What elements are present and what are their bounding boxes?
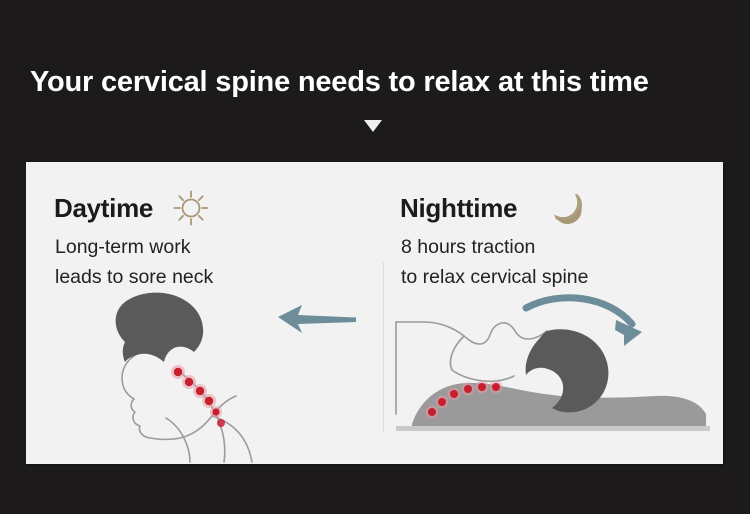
panel-nighttime-title: Nighttime bbox=[400, 193, 517, 223]
hair-shape bbox=[116, 293, 204, 362]
panel-daytime-body-line-2: leads to sore neck bbox=[55, 262, 213, 292]
panel-daytime-header: Daytime bbox=[54, 188, 211, 228]
pain-dots bbox=[171, 365, 225, 427]
panel-daytime: Daytime bbox=[26, 162, 383, 464]
reclining-person-on-pillow-illustration bbox=[384, 290, 723, 464]
panel-nighttime-body-line-2: to relax cervical spine bbox=[401, 262, 589, 292]
panel-nighttime-body: 8 hours traction to relax cervical spine bbox=[401, 232, 589, 292]
seated-person-sore-neck-illustration bbox=[26, 290, 383, 464]
comparison-card: Daytime bbox=[26, 162, 723, 464]
moon-icon bbox=[547, 188, 587, 228]
panel-nighttime-header: Nighttime bbox=[400, 188, 587, 228]
panel-daytime-body-line-1: Long-term work bbox=[55, 232, 213, 262]
panel-daytime-title: Daytime bbox=[54, 193, 153, 223]
panel-nighttime-body-line-1: 8 hours traction bbox=[401, 232, 589, 262]
page-title: Your cervical spine needs to relax at th… bbox=[30, 64, 720, 100]
panel-nighttime: Nighttime 8 hours traction to relax cerv… bbox=[384, 162, 723, 464]
sun-icon bbox=[171, 188, 211, 228]
infographic-root: Your cervical spine needs to relax at th… bbox=[0, 0, 750, 514]
panel-daytime-body: Long-term work leads to sore neck bbox=[55, 232, 213, 292]
arrow-left-icon bbox=[278, 305, 356, 333]
caret-down-icon bbox=[364, 120, 382, 132]
